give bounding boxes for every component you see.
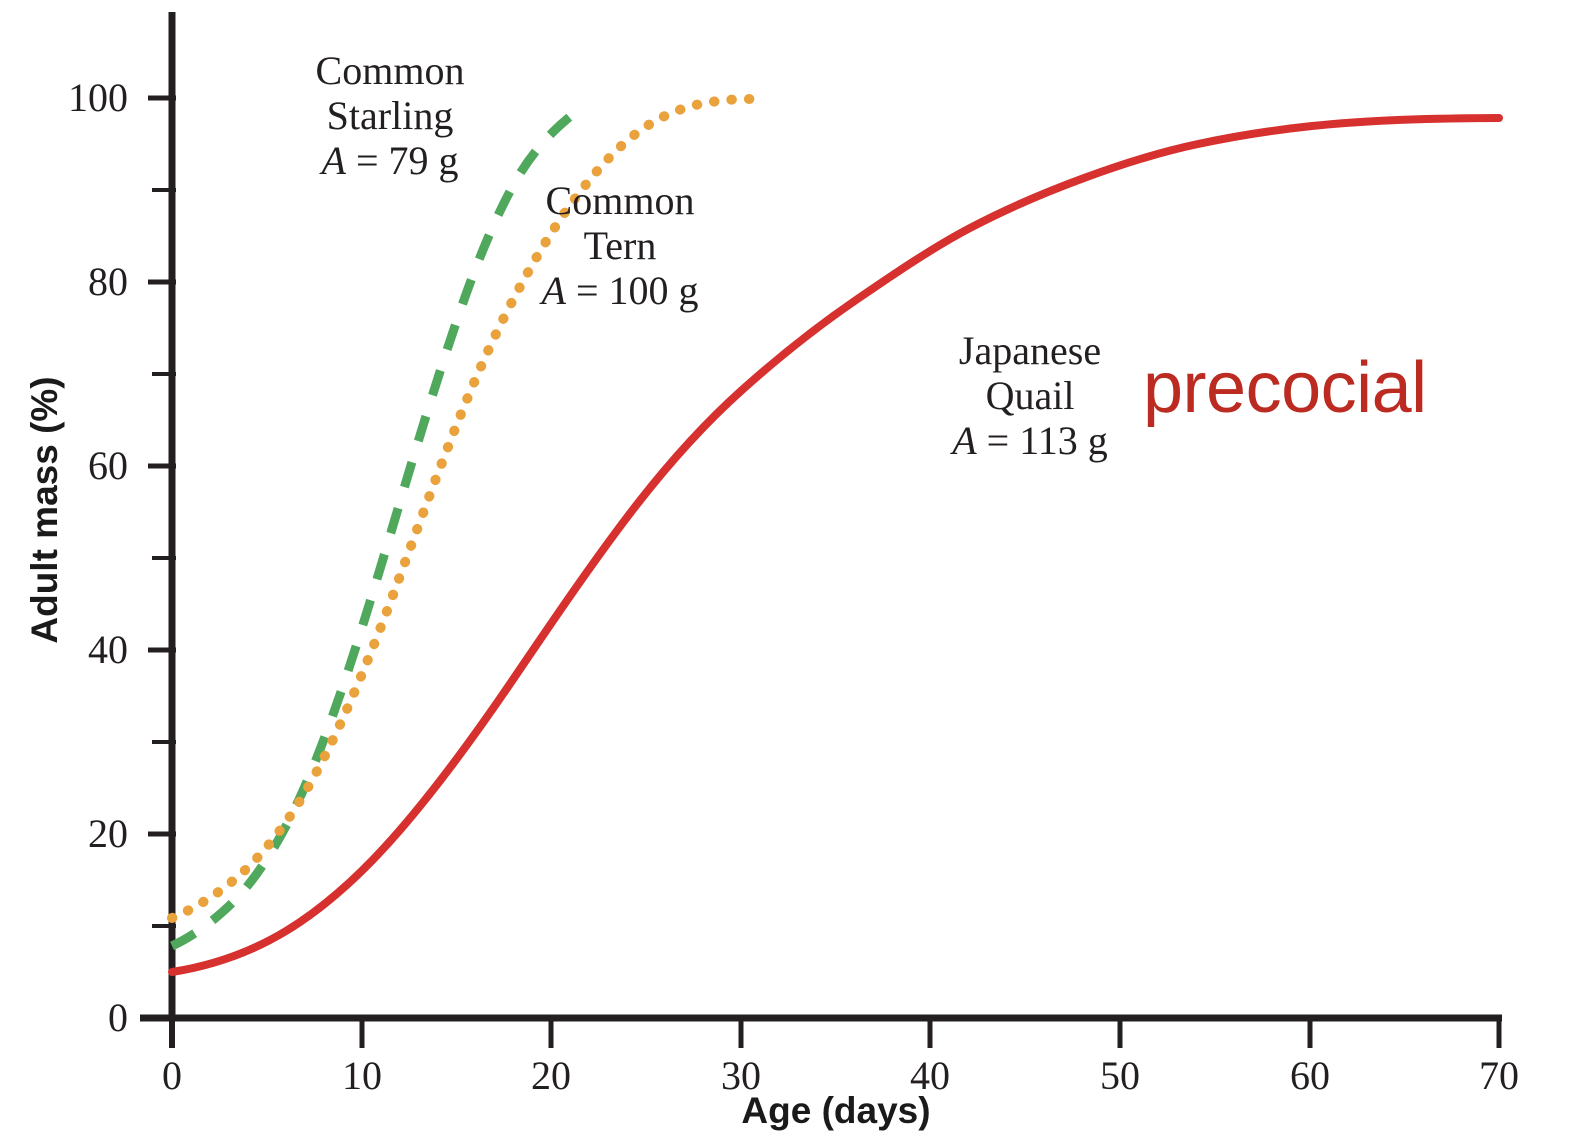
series-label-line2: Quail	[880, 373, 1180, 418]
y-tick-label-20: 20	[16, 814, 128, 854]
series-label-mass: A = 79 g	[240, 138, 540, 183]
x-tick-label-10: 10	[342, 1056, 382, 1096]
mass-variable: A	[322, 138, 346, 183]
x-tick-label-20: 20	[531, 1056, 571, 1096]
mass-variable: A	[952, 418, 976, 463]
mass-variable: A	[542, 268, 566, 313]
series-label-common-tern: Common Tern A = 100 g	[470, 178, 770, 314]
y-axis-title: Adult mass (%)	[26, 376, 63, 643]
series-label-line1: Common	[470, 178, 770, 223]
x-tick-label-0: 0	[162, 1056, 182, 1096]
series-label-line1: Japanese	[880, 328, 1180, 373]
y-tick-label-0: 0	[16, 998, 128, 1038]
series-label-line2: Tern	[470, 223, 770, 268]
x-tick-label-50: 50	[1100, 1056, 1140, 1096]
mass-value: = 100 g	[566, 268, 699, 313]
series-label-common-starling: Common Starling A = 79 g	[240, 48, 540, 184]
y-tick-label-100: 100	[16, 78, 128, 118]
x-tick-label-70: 70	[1479, 1056, 1519, 1096]
x-tick-label-60: 60	[1290, 1056, 1330, 1096]
series-line-japanese-quail	[172, 118, 1499, 972]
chart-figure: 100 80 60 40 20 0 0 10 20 30 40 50 60 70…	[0, 0, 1570, 1140]
mass-value: = 113 g	[977, 418, 1108, 463]
series-label-mass: A = 113 g	[880, 418, 1180, 463]
series-label-line2: Starling	[240, 93, 540, 138]
series-label-japanese-quail: Japanese Quail A = 113 g	[880, 328, 1180, 464]
series-label-line1: Common	[240, 48, 540, 93]
x-axis-ticks	[172, 1018, 1499, 1048]
plot-canvas	[0, 0, 1570, 1140]
x-axis-title: Age (days)	[741, 1092, 930, 1129]
y-tick-label-80: 80	[16, 262, 128, 302]
series-label-mass: A = 100 g	[470, 268, 770, 313]
annotation-precocial: precocial	[1143, 352, 1427, 424]
mass-value: = 79 g	[346, 138, 459, 183]
